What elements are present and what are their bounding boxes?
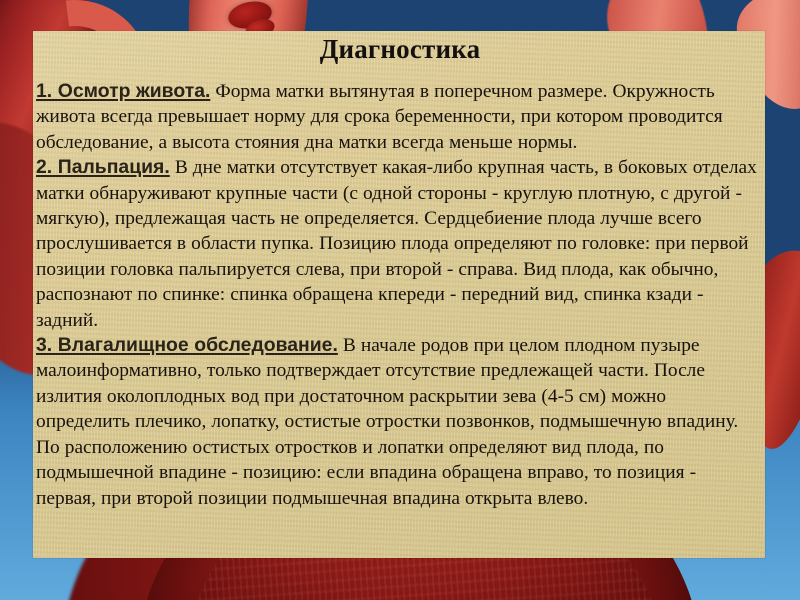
- slide-title: Диагностика: [0, 34, 800, 65]
- section-palpaciya: 2. Пальпация. В дне матки отсутствует ка…: [36, 155, 758, 333]
- section-heading-1: 1. Осмотр живота.: [36, 80, 210, 102]
- section-body-2: В дне матки отсутствует какая-либо крупн…: [36, 157, 757, 330]
- section-osmotr-zhivota: 1. Осмотр живота. Форма матки вытянутая …: [36, 79, 758, 155]
- slide-body: 1. Осмотр живота. Форма матки вытянутая …: [36, 79, 758, 511]
- section-vlagalishchnoe-obsledovanie: 3. Влагалищное обследование. В начале ро…: [36, 333, 758, 511]
- presentation-slide: Диагностика 1. Осмотр живота. Форма матк…: [0, 0, 800, 600]
- section-heading-3: 3. Влагалищное обследование.: [36, 334, 338, 356]
- section-heading-2: 2. Пальпация.: [36, 156, 170, 178]
- section-body-3: В начале родов при целом плодном пузыре …: [36, 335, 738, 508]
